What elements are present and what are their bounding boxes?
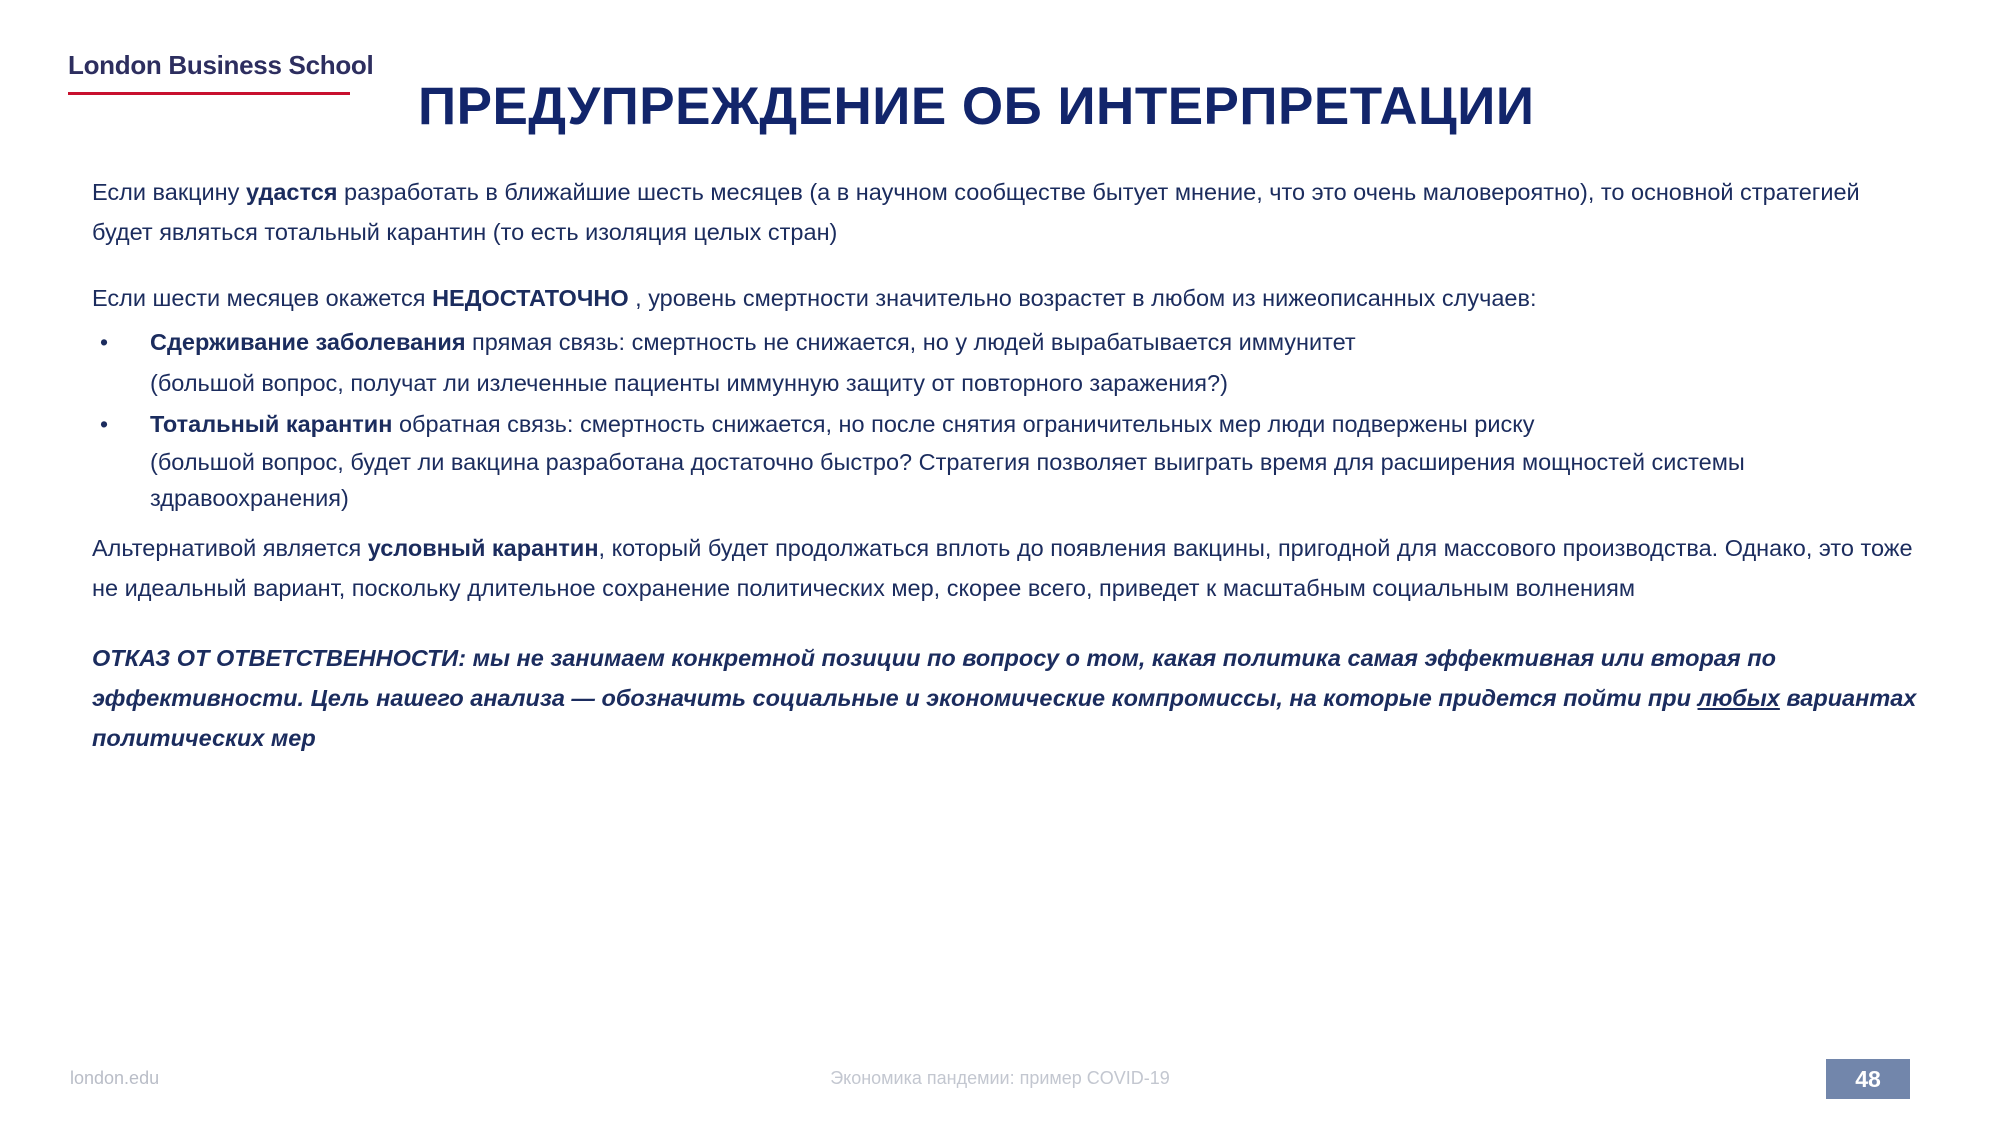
disclaimer-underlined-word: любых <box>1698 685 1780 711</box>
list-item-body: Тотальный карантин обратная связь: смерт… <box>150 404 1922 516</box>
p3-lead: Альтернативой является <box>92 535 368 561</box>
p1-lead: Если вакцину <box>92 179 246 205</box>
p1-rest: разработать в ближайшие шесть месяцев (а… <box>92 179 1860 245</box>
brand-logo-rule <box>68 92 350 95</box>
list-item: • Тотальный карантин обратная связь: сме… <box>92 404 1922 516</box>
slide-canvas: London Business School ПРЕДУПРЕЖДЕНИЕ ОБ… <box>0 0 2000 1125</box>
slide-body: Если вакцину удастся разработать в ближа… <box>92 172 1922 758</box>
bullet-1-term: Тотальный карантин <box>150 411 392 437</box>
brand-logo-text: London Business School <box>68 50 358 81</box>
page-number-badge: 48 <box>1826 1059 1910 1099</box>
bullet-point-icon: • <box>92 322 150 362</box>
bullet-0-subnote: (большой вопрос, получат ли излеченные п… <box>150 362 1922 404</box>
page-title: ПРЕДУПРЕЖДЕНИЕ ОБ ИНТЕРПРЕТАЦИИ <box>418 78 1534 136</box>
disclaimer-paragraph: ОТКАЗ ОТ ОТВЕТСТВЕННОСТИ: мы не занимаем… <box>92 638 1922 758</box>
bullet-0-text: прямая связь: смертность не снижается, н… <box>466 329 1356 355</box>
p2-lead: Если шести месяцев окажется <box>92 285 432 311</box>
list-item-body: Сдерживание заболевания прямая связь: см… <box>150 322 1922 404</box>
list-item: • Сдерживание заболевания прямая связь: … <box>92 322 1922 404</box>
paragraph-conditional-quarantine: Альтернативой является условный карантин… <box>92 528 1922 608</box>
p1-emphasis: удастся <box>246 179 338 205</box>
paragraph-vaccine-scenario: Если вакцину удастся разработать в ближа… <box>92 172 1922 252</box>
footer-deck-title: Экономика пандемии: пример COVID-19 <box>0 1068 2000 1089</box>
bullet-1-subnote: (большой вопрос, будет ли вакцина разраб… <box>150 444 1922 516</box>
p2-rest: , уровень смертности значительно возраст… <box>629 285 1537 311</box>
bullet-point-icon: • <box>92 404 150 444</box>
bullet-0-term: Сдерживание заболевания <box>150 329 466 355</box>
bullet-1-text: обратная связь: смертность снижается, но… <box>392 411 1534 437</box>
spacer <box>92 516 1922 528</box>
p3-emphasis: условный карантин <box>368 535 599 561</box>
p2-emphasis: НЕДОСТАТОЧНО <box>432 285 629 311</box>
paragraph-insufficient-intro: Если шести месяцев окажется НЕДОСТАТОЧНО… <box>92 278 1922 318</box>
disclaimer-label: ОТКАЗ ОТ ОТВЕТСТВЕННОСТИ: <box>92 645 466 671</box>
brand-logo: London Business School <box>68 50 358 95</box>
